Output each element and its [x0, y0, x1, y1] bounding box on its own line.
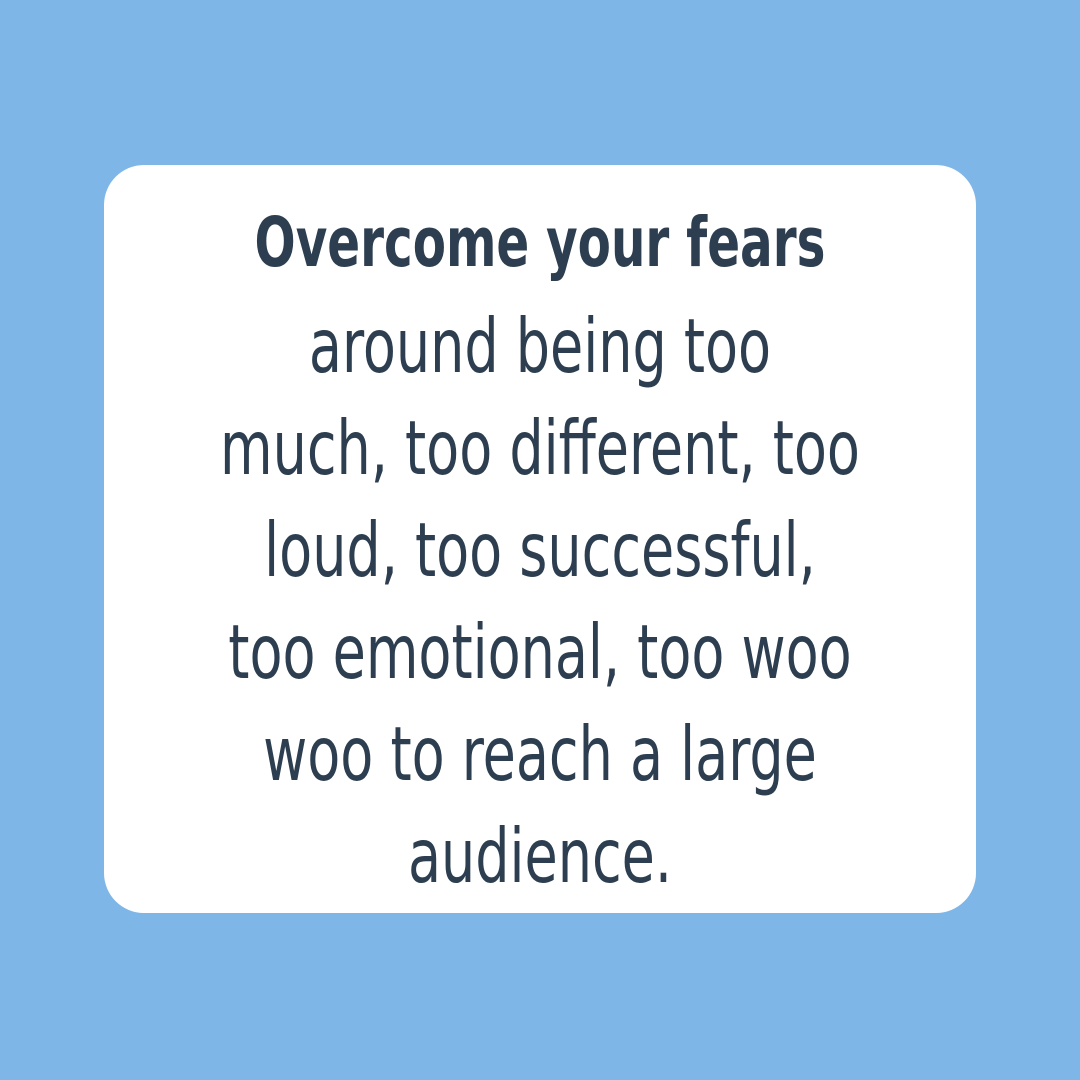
quote-card: Overcome your fears around being too muc…	[104, 165, 976, 913]
quote-line-3: much, too different, too	[218, 397, 861, 499]
quote-line-6: woo to reach a large	[218, 703, 861, 805]
quote-line-5: too emotional, too woo	[218, 601, 861, 703]
quote-line-7: audience.	[218, 805, 861, 907]
quote-line-2: around being too	[218, 295, 861, 397]
quote-line-heading: Overcome your fears	[226, 193, 853, 293]
quote-line-4: loud, too successful,	[218, 499, 861, 601]
quote-canvas: Overcome your fears around being too muc…	[0, 0, 1080, 1080]
quote-text-block: Overcome your fears around being too muc…	[138, 193, 942, 907]
